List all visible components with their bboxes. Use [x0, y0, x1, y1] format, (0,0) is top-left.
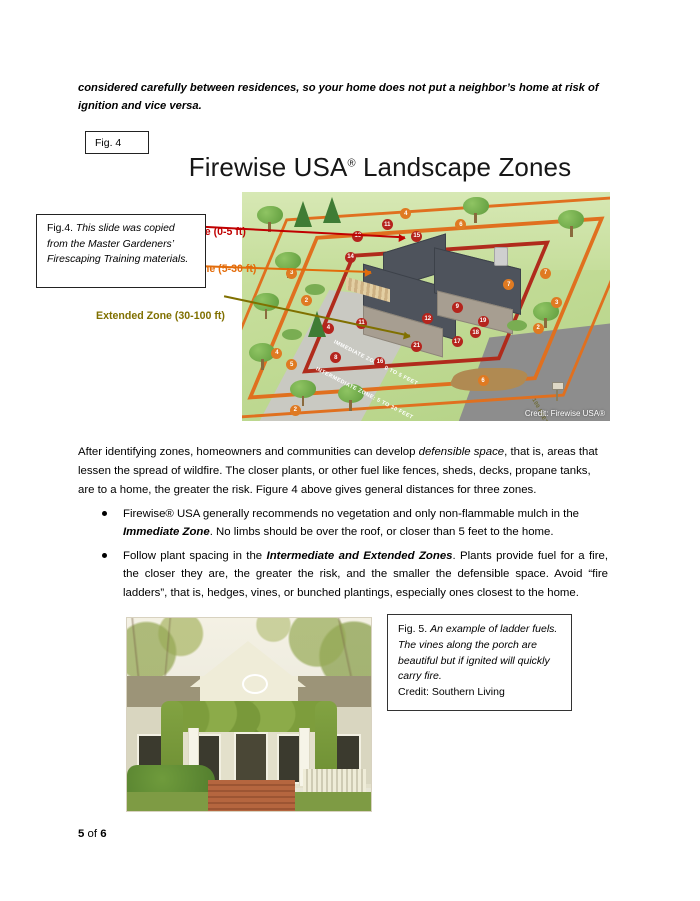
figure4-caption-lead: Fig.4. [47, 223, 73, 234]
zone-marker-9: 9 [452, 302, 463, 313]
zone-marker-4: 4 [323, 323, 334, 334]
figure5-credit: Credit: Southern Living [398, 686, 505, 698]
figure4-tag: Fig. 4 [85, 131, 149, 154]
figure4-caption-box: Fig.4. This slide was copied from the Ma… [36, 214, 206, 288]
zone-marker-2: 2 [301, 295, 312, 306]
zone-marker-2: 2 [290, 405, 301, 416]
figure4-tag-label: Fig. 4 [95, 137, 121, 149]
extended-zone-label: Extended Zone (30-100 ft) [96, 310, 225, 322]
figure4-title-rest: Landscape Zones [363, 152, 571, 182]
registered-mark-icon: ® [347, 157, 355, 169]
footer-total-pages: 6 [100, 828, 106, 840]
list-item: Follow plant spacing in the Intermediate… [96, 547, 608, 602]
figure5-photo [126, 617, 372, 812]
footer-separator: of [88, 828, 98, 840]
chimney-icon [494, 247, 508, 266]
list-item: Firewise® USA generally recommends no ve… [96, 505, 608, 542]
bullet-2-bold: Intermediate and Extended Zones [267, 550, 453, 562]
tree-icon [290, 380, 316, 406]
footer-page-number: 5 [78, 828, 84, 840]
bullet-1-part2: . No limbs should be over the roof, or c… [210, 526, 554, 538]
zone-marker-14: 14 [345, 252, 356, 263]
bullet-list: Firewise® USA generally recommends no ve… [96, 505, 608, 607]
bullet-1-part1: Firewise® USA generally recommends no ve… [123, 508, 579, 520]
mailbox-box [552, 382, 564, 390]
bullet-2-part1: Follow plant spacing in the [123, 550, 267, 562]
bullet-1-bold: Immediate Zone [123, 526, 210, 538]
figure4-credit: Credit: Firewise USA® [525, 409, 605, 418]
intro-paragraph: considered carefully between residences,… [78, 80, 601, 115]
zone-marker-2: 2 [533, 323, 544, 334]
picket-fence [303, 769, 366, 792]
house-illustration [352, 252, 521, 357]
body-paragraph: After identifying zones, homeowners and … [78, 443, 605, 500]
bullet-dot-icon [102, 511, 107, 516]
figure5-caption-box: Fig. 5. An example of ladder fuels. The … [387, 614, 572, 711]
tree-icon [558, 210, 584, 236]
figure5-caption-lead: Fig. 5. [398, 623, 427, 635]
conifer-tree-icon [294, 201, 312, 227]
figure4-title: Firewise USA® Landscape Zones [150, 152, 610, 183]
body-paragraph-part1: After identifying zones, homeowners and … [78, 446, 419, 458]
round-gable-window [242, 674, 268, 694]
page-footer: 5 of 6 [78, 828, 107, 840]
conifer-tree-icon [323, 197, 341, 223]
shrub-icon [305, 284, 325, 295]
zone-marker-7: 7 [540, 268, 551, 279]
defensible-space-emphasis: defensible space [419, 446, 505, 458]
bullet-dot-icon [102, 553, 107, 558]
mailbox-icon [552, 382, 562, 398]
tree-icon [463, 197, 489, 223]
window [333, 734, 361, 773]
zone-marker-6: 6 [478, 375, 489, 386]
zone-marker-17: 17 [452, 336, 463, 347]
document-page: considered carefully between residences,… [0, 0, 700, 901]
figure4-illustration: IMMEDIATE ZONE: 0 TO 5 FEET INTERMEDIATE… [242, 192, 610, 421]
mailbox-post [556, 390, 558, 401]
brick-steps [208, 780, 296, 811]
zone-marker-19: 19 [478, 316, 489, 327]
figure4-title-main: Firewise USA [189, 152, 348, 182]
